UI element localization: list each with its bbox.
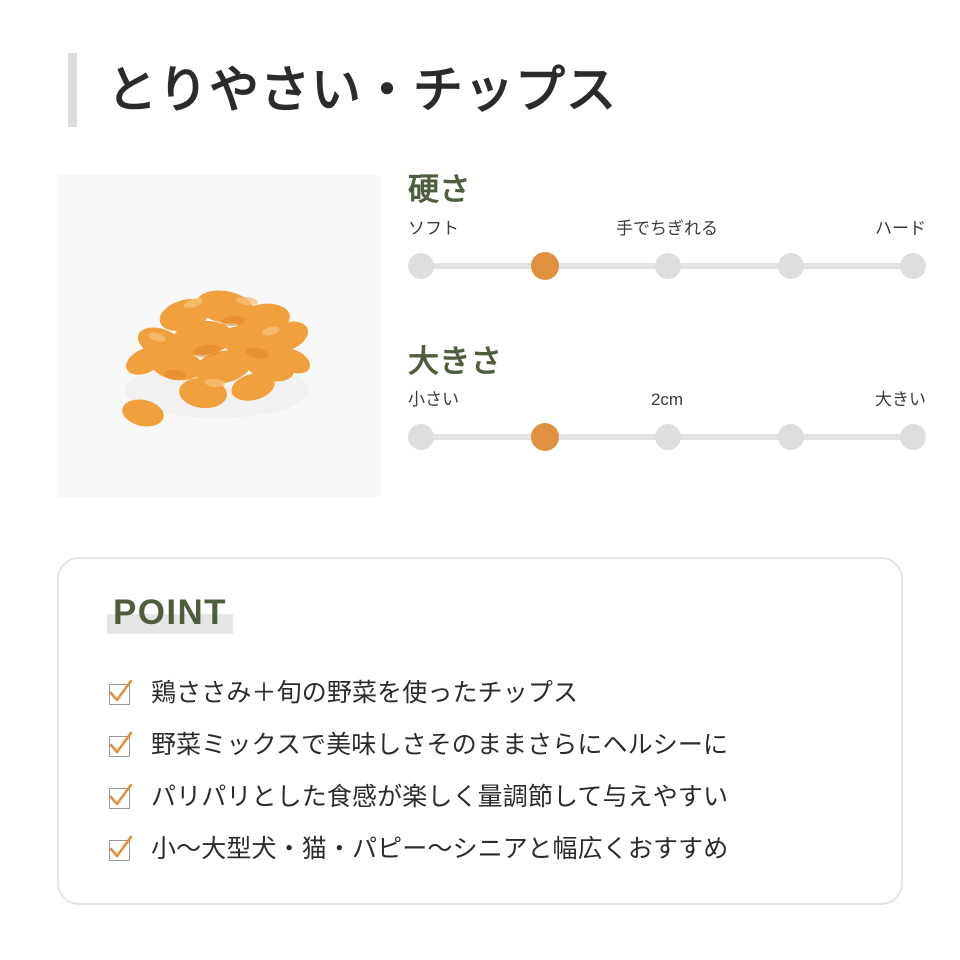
page-title: とりやさい・チップス <box>107 65 617 115</box>
scale-dots-hardness <box>408 252 926 280</box>
list-item: 鶏ささみ＋旬の野菜を使ったチップス <box>107 667 871 719</box>
scale-dots-size <box>408 423 926 451</box>
scale-label-hardness-center: 手でちぎれる <box>616 216 718 242</box>
spec-block-size: 大きさ 小さい 2cm 大きい <box>408 344 926 452</box>
scale-track-size[interactable] <box>408 423 926 451</box>
product-image <box>57 175 381 497</box>
scale-label-size-center: 2cm <box>651 387 683 413</box>
list-item: パリパリとした食感が楽しく量調節して与えやすい <box>107 771 871 823</box>
point-item-text: 小〜大型犬・猫・パピー〜シニアと幅広くおすすめ <box>151 834 728 864</box>
page-title-row: とりやさい・チップス <box>68 52 617 128</box>
product-photo-graphic <box>57 175 381 497</box>
list-item: 野菜ミックスで美味しさそのままさらにヘルシーに <box>107 719 871 771</box>
scale-dot-size-1[interactable] <box>408 424 434 450</box>
scale-label-size-left: 小さい <box>408 387 459 413</box>
list-item: 小〜大型犬・猫・パピー〜シニアと幅広くおすすめ <box>107 823 871 875</box>
scale-label-hardness-left: ソフト <box>408 216 459 242</box>
scale-dot-hardness-4[interactable] <box>778 253 804 279</box>
check-icon <box>107 732 133 758</box>
scale-dot-size-5[interactable] <box>900 424 926 450</box>
scale-track-hardness[interactable] <box>408 252 926 280</box>
spec-block-hardness: 硬さ ソフト 手でちぎれる ハード <box>408 172 926 280</box>
point-item-text: 野菜ミックスで美味しさそのままさらにヘルシーに <box>151 730 728 760</box>
point-heading: POINT <box>107 595 233 633</box>
spec-heading-hardness: 硬さ <box>408 172 926 208</box>
checkbox-checked-icon <box>107 732 133 758</box>
spec-heading-size: 大きさ <box>408 344 926 380</box>
scale-dot-size-4[interactable] <box>778 424 804 450</box>
scale-labels-size: 小さい 2cm 大きい <box>408 387 926 413</box>
check-icon <box>107 784 133 810</box>
title-accent-bar <box>68 53 77 127</box>
scale-dot-size-2[interactable] <box>531 423 559 451</box>
scale-dot-hardness-3[interactable] <box>655 253 681 279</box>
point-heading-text: POINT <box>113 593 227 632</box>
checkbox-checked-icon <box>107 784 133 810</box>
spec-panel: 硬さ ソフト 手でちぎれる ハード 大きさ 小さい 2cm 大きい <box>408 172 926 451</box>
point-card: POINT 鶏ささみ＋旬の野菜を使ったチップス 野菜ミックスで美味しさそのままさ… <box>57 557 903 905</box>
point-list: 鶏ささみ＋旬の野菜を使ったチップス 野菜ミックスで美味しさそのままさらにヘルシー… <box>107 667 871 875</box>
checkbox-checked-icon <box>107 836 133 862</box>
point-item-text: 鶏ささみ＋旬の野菜を使ったチップス <box>151 678 578 708</box>
scale-labels-hardness: ソフト 手でちぎれる ハード <box>408 216 926 242</box>
scale-dot-hardness-1[interactable] <box>408 253 434 279</box>
check-icon <box>107 836 133 862</box>
scale-dot-hardness-2[interactable] <box>531 252 559 280</box>
point-item-text: パリパリとした食感が楽しく量調節して与えやすい <box>151 782 728 812</box>
checkbox-checked-icon <box>107 680 133 706</box>
scale-label-hardness-right: ハード <box>875 216 926 242</box>
scale-label-size-right: 大きい <box>875 387 926 413</box>
scale-dot-hardness-5[interactable] <box>900 253 926 279</box>
check-icon <box>107 680 133 706</box>
scale-dot-size-3[interactable] <box>655 424 681 450</box>
